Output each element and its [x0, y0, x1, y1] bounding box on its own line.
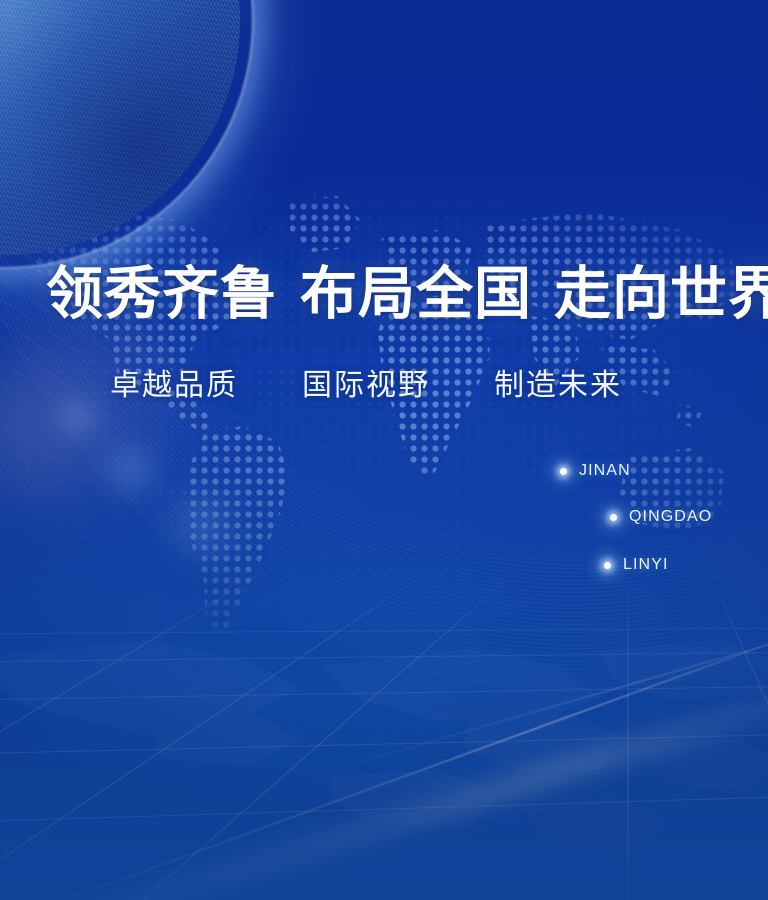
hero-banner: 领秀齐鲁 布局全国 走向世界 卓越品质 国际视野 制造未来 JINAN QING… — [0, 0, 768, 900]
banner-content: 领秀齐鲁 布局全国 走向世界 卓越品质 国际视野 制造未来 JINAN QING… — [0, 0, 768, 900]
headline-segment-2: 布局全国 — [300, 266, 532, 323]
city-marker-qingdao: QINGDAO — [610, 508, 712, 526]
city-marker-jinan: JINAN — [560, 462, 631, 480]
subheadline-segment-3: 制造未来 — [494, 371, 622, 401]
city-dot-marker-icon — [610, 514, 617, 521]
subheadline-segment-2: 国际视野 — [302, 371, 430, 401]
city-label: QINGDAO — [629, 508, 712, 526]
headline: 领秀齐鲁 布局全国 走向世界 — [46, 266, 768, 323]
subheadline-segment-1: 卓越品质 — [110, 371, 238, 401]
city-marker-linyi: LINYI — [604, 556, 669, 574]
city-dot-marker-icon — [604, 562, 611, 569]
headline-segment-1: 领秀齐鲁 — [46, 266, 278, 323]
city-label: LINYI — [623, 556, 669, 574]
subheadline: 卓越品质 国际视野 制造未来 — [110, 371, 622, 401]
headline-segment-3: 走向世界 — [554, 266, 768, 323]
city-label: JINAN — [579, 462, 631, 480]
city-dot-marker-icon — [560, 468, 567, 475]
